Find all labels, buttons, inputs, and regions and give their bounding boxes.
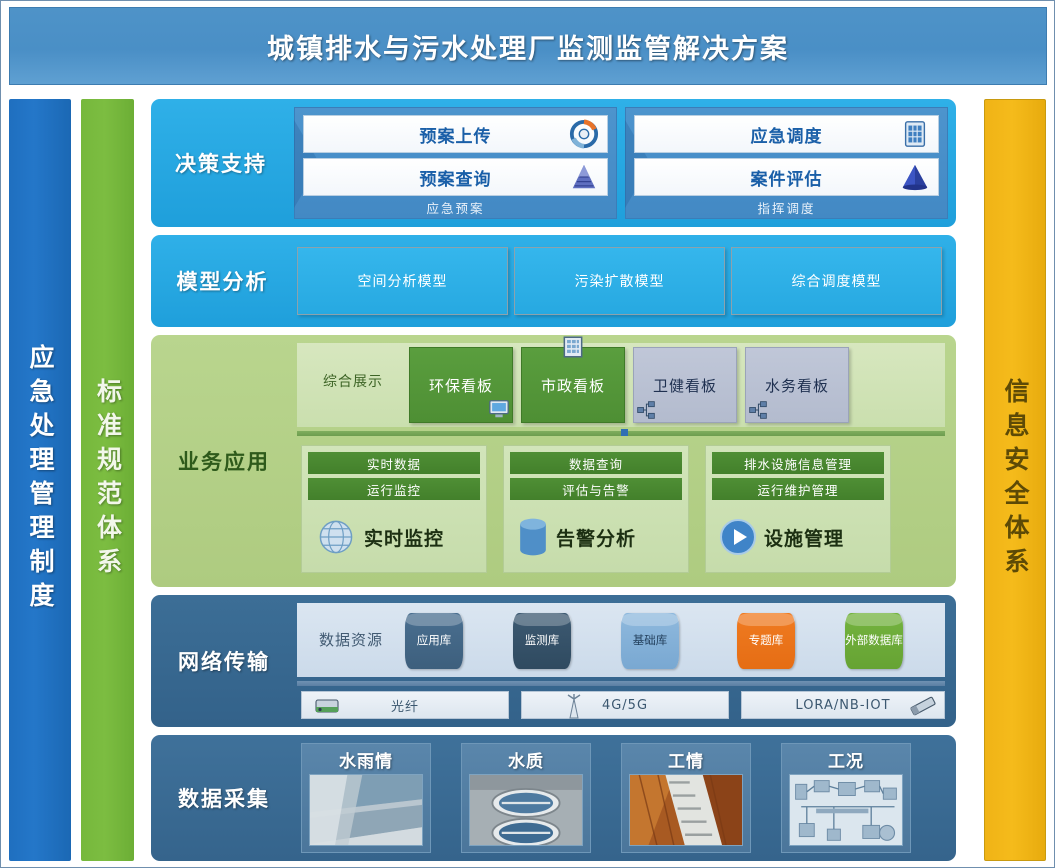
- pyramid-icon: [569, 162, 599, 192]
- business-tag-data-query[interactable]: 数据查询: [510, 452, 682, 474]
- network-node-icon: [636, 400, 656, 420]
- sedimentation-tank-photo: [469, 774, 583, 846]
- transport-lora-nbiot-label: LORA/NB-IOT: [795, 698, 890, 713]
- layer-network-transport-label: 网络传输: [151, 595, 297, 727]
- business-feature-alarm-analysis-label: 告警分析: [556, 524, 636, 551]
- decision-item-plan-query-label: 预案查询: [420, 165, 492, 190]
- data-card-water-quality-label: 水质: [462, 746, 590, 772]
- model-box-integrated-dispatch[interactable]: 综合调度模型: [731, 247, 942, 315]
- decision-group-command-dispatch-footer: 指挥调度: [626, 198, 947, 216]
- business-column-realtime: 实时数据 运行监控 实时监控: [301, 445, 487, 573]
- kanban-health-label: 卫健看板: [653, 375, 717, 396]
- business-tag-drainage-facility-info[interactable]: 排水设施信息管理: [712, 452, 884, 474]
- pillar-information-security: 信息安全体系: [984, 99, 1046, 861]
- decision-item-plan-query[interactable]: 预案查询: [303, 158, 608, 196]
- layer-decision-support-label: 决策支持: [151, 99, 291, 227]
- transport-cellular-label: 4G/5G: [602, 698, 648, 713]
- layer-stack: 决策支持 预案上传 预案查询: [151, 99, 956, 861]
- globe-icon: [314, 515, 358, 559]
- play-circle-icon: [718, 517, 758, 557]
- transport-cellular[interactable]: 4G/5G: [521, 691, 729, 719]
- layer-model-analysis: 模型分析 空间分析模型 污染扩散模型 综合调度模型: [151, 235, 956, 327]
- kanban-municipal-label: 市政看板: [541, 375, 605, 396]
- data-resource-label: 数据资源: [305, 629, 397, 650]
- business-feature-realtime-monitoring-label: 实时监控: [364, 524, 444, 551]
- pillar-information-security-label: 信息安全体系: [997, 378, 1033, 582]
- data-card-operating-condition[interactable]: 工况: [781, 743, 911, 853]
- data-card-rain-water-regime[interactable]: 水雨情: [301, 743, 431, 853]
- showcase-panel: 综合展示 环保看板 市政看板: [297, 343, 945, 427]
- database-external[interactable]: 外部数据库: [845, 613, 903, 669]
- sensor-module-icon: [906, 693, 940, 719]
- data-card-operating-condition-label: 工况: [782, 746, 910, 772]
- grid-calculator-icon: [900, 119, 930, 149]
- divider-dot-icon: [621, 429, 628, 436]
- pillar-standards-system-label: 标准规范体系: [90, 378, 126, 582]
- decision-item-plan-upload-label: 预案上传: [420, 122, 492, 147]
- transport-fiber-label: 光纤: [391, 696, 419, 715]
- pillar-emergency-management: 应急处理管理制度: [9, 99, 71, 861]
- transport-lora-nbiot[interactable]: LORA/NB-IOT: [741, 691, 945, 719]
- business-feature-alarm-analysis[interactable]: 告警分析: [510, 506, 682, 568]
- showcase-label: 综合展示: [307, 371, 399, 391]
- database-foundation[interactable]: 基础库: [621, 613, 679, 669]
- model-box-spatial[interactable]: 空间分析模型: [297, 247, 508, 315]
- business-tag-operation-maintenance[interactable]: 运行维护管理: [712, 478, 884, 500]
- database-application[interactable]: 应用库: [405, 613, 463, 669]
- decision-group-emergency-plan: 预案上传 预案查询: [294, 107, 617, 219]
- network-divider: [297, 681, 945, 686]
- business-column-alarm: 数据查询 评估与告警 告警分析: [503, 445, 689, 573]
- business-tag-realtime-data[interactable]: 实时数据: [308, 452, 480, 474]
- pipeline-trench-photo: [629, 774, 743, 846]
- data-card-water-quality[interactable]: 水质: [461, 743, 591, 853]
- cone-icon: [900, 162, 930, 192]
- diagram-canvas: 城镇排水与污水处理厂监测监管解决方案 应急处理管理制度 标准规范体系 信息安全体…: [0, 0, 1055, 868]
- river-channel-photo: [309, 774, 423, 846]
- kanban-water-affairs[interactable]: 水务看板: [745, 347, 849, 423]
- building-icon: [560, 334, 586, 360]
- model-box-pollution-diffusion[interactable]: 污染扩散模型: [514, 247, 725, 315]
- data-card-project-status-label: 工情: [622, 746, 750, 772]
- layer-data-acquisition-label: 数据采集: [151, 735, 297, 861]
- database-thematic[interactable]: 专题库: [737, 613, 795, 669]
- kanban-environment[interactable]: 环保看板: [409, 347, 513, 423]
- layer-model-analysis-label: 模型分析: [151, 235, 294, 327]
- business-tag-assessment-alarm[interactable]: 评估与告警: [510, 478, 682, 500]
- data-resource-panel: 数据资源 应用库 监测库 基础库 专题库 外部数据库: [297, 603, 945, 677]
- business-divider: [297, 431, 945, 436]
- refresh-cycle-icon: [569, 119, 599, 149]
- business-feature-realtime-monitoring[interactable]: 实时监控: [308, 506, 480, 568]
- business-feature-facility-management[interactable]: 设施管理: [712, 506, 884, 568]
- business-column-facility: 排水设施信息管理 运行维护管理 设施管理: [705, 445, 891, 573]
- pillar-emergency-management-label: 应急处理管理制度: [22, 344, 58, 616]
- transport-fiber[interactable]: 光纤: [301, 691, 509, 719]
- monitor-icon: [488, 398, 510, 420]
- layer-business-application: 业务应用 综合展示 环保看板 市政看板: [151, 335, 956, 587]
- layer-data-acquisition: 数据采集 水雨情 水质: [151, 735, 956, 861]
- decision-group-emergency-plan-footer: 应急预案: [295, 198, 616, 216]
- scada-schematic-photo: [789, 774, 903, 846]
- pillar-standards-system: 标准规范体系: [81, 99, 134, 861]
- decision-item-case-assessment-label: 案件评估: [751, 165, 823, 190]
- database-icon: [516, 515, 550, 559]
- decision-group-command-dispatch: 应急调度: [625, 107, 948, 219]
- layer-business-application-label: 业务应用: [151, 335, 297, 587]
- data-card-project-status[interactable]: 工情: [621, 743, 751, 853]
- kanban-municipal[interactable]: 市政看板: [521, 347, 625, 423]
- decision-item-emergency-dispatch[interactable]: 应急调度: [634, 115, 939, 153]
- kanban-environment-label: 环保看板: [429, 375, 493, 396]
- antenna-icon: [564, 693, 584, 719]
- diagram-title: 城镇排水与污水处理厂监测监管解决方案: [267, 27, 789, 66]
- layer-decision-support: 决策支持 预案上传 预案查询: [151, 99, 956, 227]
- network-node-icon: [748, 400, 768, 420]
- decision-item-plan-upload[interactable]: 预案上传: [303, 115, 608, 153]
- diagram-title-bar: 城镇排水与污水处理厂监测监管解决方案: [9, 7, 1047, 85]
- kanban-water-affairs-label: 水务看板: [765, 375, 829, 396]
- database-monitoring[interactable]: 监测库: [513, 613, 571, 669]
- business-tag-operation-monitor[interactable]: 运行监控: [308, 478, 480, 500]
- data-card-rain-water-regime-label: 水雨情: [302, 746, 430, 772]
- fiber-cable-icon: [312, 695, 342, 717]
- decision-item-case-assessment[interactable]: 案件评估: [634, 158, 939, 196]
- kanban-health[interactable]: 卫健看板: [633, 347, 737, 423]
- layer-network-transport: 网络传输 数据资源 应用库 监测库 基础库 专题库 外部数据库 光纤: [151, 595, 956, 727]
- decision-item-emergency-dispatch-label: 应急调度: [751, 122, 823, 147]
- business-feature-facility-management-label: 设施管理: [764, 524, 844, 551]
